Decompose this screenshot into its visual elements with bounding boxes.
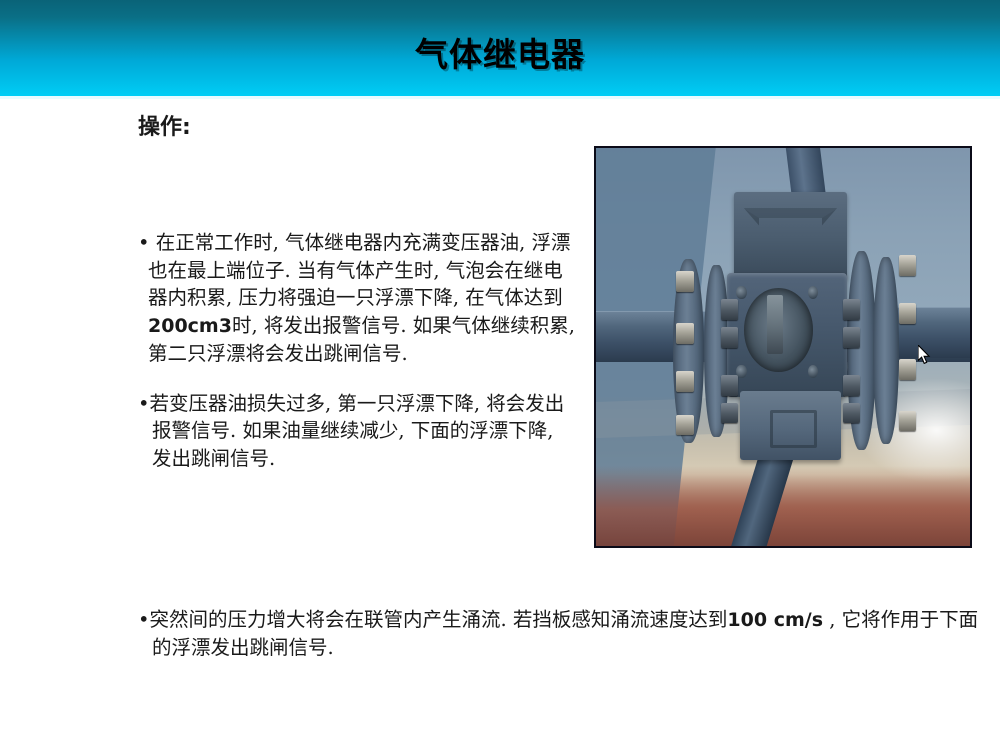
photo-bolt bbox=[676, 415, 693, 436]
photo-bolt bbox=[899, 255, 916, 276]
photo-bolt bbox=[676, 271, 693, 292]
text-column: • 在正常工作时, 气体继电器内充满变压器油, 浮漂也在最上端位子. 当有气体产… bbox=[138, 229, 578, 488]
photo-bolt bbox=[899, 411, 916, 432]
photo-bolt bbox=[899, 359, 916, 380]
paragraph-3-bold-value: 100 cm/s bbox=[727, 609, 823, 631]
photo-relay-cover-plate bbox=[740, 391, 841, 461]
photo-bolt bbox=[843, 299, 860, 320]
photo-flange-outer-right bbox=[873, 257, 899, 444]
photo-bolt bbox=[721, 299, 738, 320]
photo-relay-screw-bottom-right bbox=[808, 365, 818, 379]
slide-content: 操作: • 在正常工作时, 气体继电器内充满变压器油, 浮漂也在最上端位子. 当… bbox=[0, 99, 1000, 750]
bullet-marker-2: • bbox=[138, 392, 150, 415]
photo-bolt bbox=[676, 371, 693, 392]
slide-header: 气体继电器 bbox=[0, 0, 1000, 96]
photo-relay-screw-top-right bbox=[808, 286, 818, 300]
bullet-marker-3: • bbox=[138, 608, 150, 631]
photo-bolt bbox=[843, 375, 860, 396]
photo-bolt bbox=[843, 403, 860, 424]
gas-relay-photo bbox=[596, 148, 970, 546]
photo-bolt bbox=[843, 327, 860, 348]
mouse-cursor-icon bbox=[918, 345, 931, 364]
paragraph-1: • 在正常工作时, 气体继电器内充满变压器油, 浮漂也在最上端位子. 当有气体产… bbox=[138, 229, 578, 368]
gas-relay-photo-frame bbox=[594, 146, 972, 548]
section-heading: 操作: bbox=[138, 109, 191, 141]
photo-relay-terminal-box bbox=[734, 192, 846, 280]
page-title: 气体继电器 bbox=[415, 26, 585, 71]
photo-relay-screw-top-left bbox=[736, 286, 746, 300]
photo-bolt bbox=[721, 375, 738, 396]
paragraph-2-text: 若变压器油损失过多, 第一只浮漂下降, 将会发出报警信号. 如果油量继续减少, … bbox=[150, 392, 565, 470]
bullet-marker-1: • bbox=[138, 231, 150, 254]
paragraph-1-text-a: 在正常工作时, 气体继电器内充满变压器油, 浮漂也在最上端位子. 当有气体产生时… bbox=[148, 231, 571, 309]
paragraph-2: •若变压器油损失过多, 第一只浮漂下降, 将会发出报警信号. 如果油量继续减少,… bbox=[138, 390, 578, 473]
paragraph-3-text-a: 突然间的压力增大将会在联管内产生涌流. 若挡板感知涌流速度达到 bbox=[150, 608, 728, 631]
paragraph-3: •突然间的压力增大将会在联管内产生涌流. 若挡板感知涌流速度达到100 cm/s… bbox=[138, 606, 982, 662]
photo-bolt bbox=[899, 303, 916, 324]
photo-bolt bbox=[676, 323, 693, 344]
photo-bolt bbox=[721, 403, 738, 424]
photo-relay-body bbox=[727, 273, 847, 396]
paragraph-1-bold-value: 200cm3 bbox=[148, 315, 232, 337]
photo-bolt bbox=[721, 327, 738, 348]
photo-relay-sight-glass bbox=[744, 288, 813, 372]
